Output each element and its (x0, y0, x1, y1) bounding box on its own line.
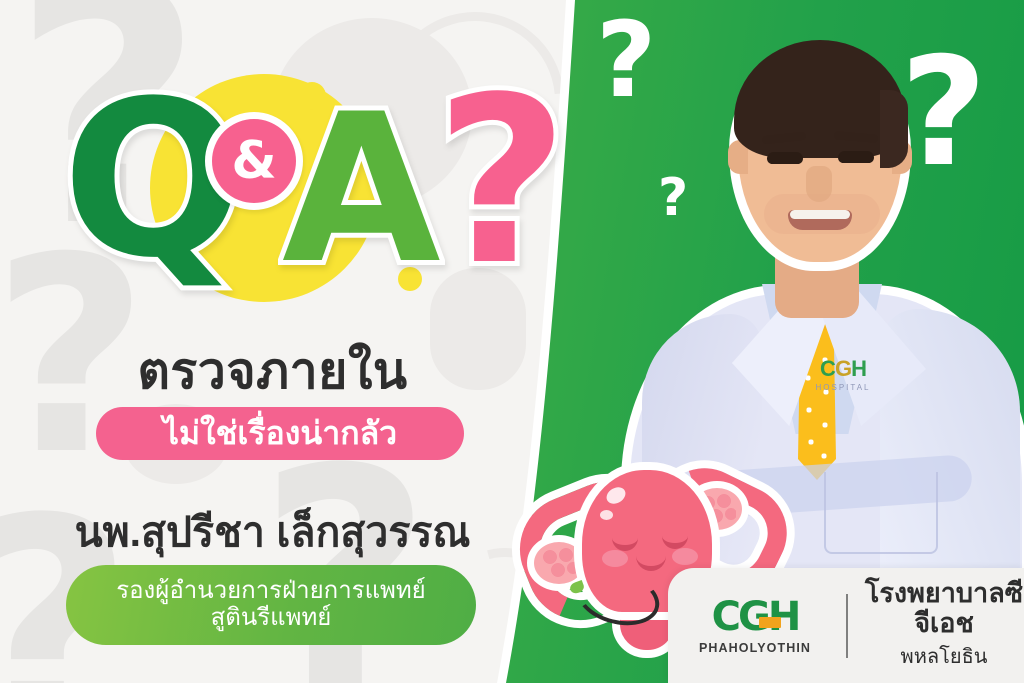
footer-divider (846, 594, 848, 658)
coat-badge-h: H (851, 356, 866, 381)
subhead-pill: ไม่ใช่เรื่องน่ากลัว (96, 407, 464, 460)
cgh-wordmark: CGH (712, 597, 799, 637)
doctor-eye-right (838, 151, 874, 163)
coat-badge-c: C (820, 356, 835, 381)
mascot-highlight (600, 510, 613, 520)
qa-letter-a: A (282, 88, 441, 293)
hospital-name-block: โรงพยาบาลซีจีเอช พหลโยธิน (864, 579, 1024, 672)
doctor-name: นพ.สุปรีชา เล็กสุวรรณ (0, 500, 545, 565)
doctor-title-pill: รองผู้อำนวยการฝ่ายการแพทย์ สูตินรีแพทย์ (66, 565, 476, 645)
qa-question-mark-icon: ? (435, 68, 568, 298)
mascot-blush-right (672, 548, 698, 565)
qa-ampersand-circle: & (205, 112, 303, 210)
doctor-teeth (790, 210, 850, 219)
qa-ampersand: & (212, 119, 296, 203)
doctor-hair-side (880, 90, 908, 168)
cgh-wordmark-text: CGH (712, 594, 799, 640)
qa-logo-badge: Q A ? & (40, 26, 560, 316)
cgh-logo: CGH PHAHOLYOTHIN (680, 597, 830, 655)
hospital-name-th: โรงพยาบาลซีจีเอช (864, 579, 1024, 638)
hospital-branch-th: พหลโยธิน (864, 640, 1024, 672)
cgh-branch-label: PHAHOLYOTHIN (680, 641, 830, 655)
cgh-orange-bar-icon (759, 617, 781, 628)
doctor-nose (806, 166, 832, 202)
doctor-title-line2: สูตินรีแพทย์ (211, 605, 332, 632)
coat-badge-g: G (835, 356, 851, 381)
poster-canvas: ? ? ? ? ? ? ? (0, 0, 1024, 683)
subhead-pill-label: ไม่ใช่เรื่องน่ากลัว (163, 408, 397, 459)
coat-pocket (824, 472, 938, 554)
doctor-eye-left (767, 152, 803, 164)
doctor-title-line1: รองผู้อำนวยการฝ่ายการแพทย์ (116, 578, 426, 605)
page-title: ตรวจภายใน (0, 332, 545, 411)
doctor-mouth (788, 210, 852, 230)
coat-badge-sub: HOSPITAL (788, 383, 898, 392)
coat-cgh-badge: CGH HOSPITAL (788, 356, 898, 392)
footer-logo-card: CGH PHAHOLYOTHIN โรงพยาบาลซีจีเอช พหลโยธ… (668, 568, 1024, 683)
mascot-blush-left (602, 550, 628, 567)
